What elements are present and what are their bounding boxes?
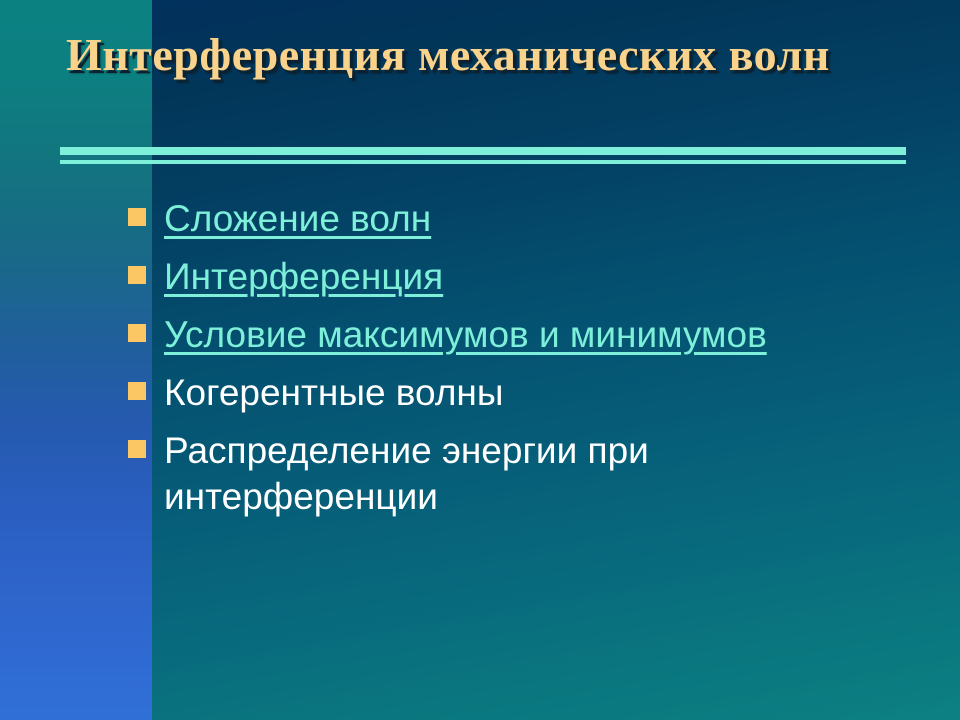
bullet-link-interferenciya[interactable]: Интерференция [164,254,928,300]
square-bullet-icon [128,208,146,226]
square-bullet-icon [128,324,146,342]
divider-rule-thick [60,147,906,155]
square-bullet-icon [128,440,146,458]
list-item: Распределение энергии при интерференции [128,428,928,520]
bullet-text-kogerentnye-volny: Когерентные волны [164,370,928,416]
divider-rule-thin [60,160,906,164]
bullet-link-slozhenie-voln[interactable]: Сложение волн [164,196,928,242]
slide-title: Интерференция механических волн [66,26,906,83]
list-item[interactable]: Сложение волн [128,196,928,242]
bullet-text-raspredelenie-energii-pri-interferencii: Распределение энергии при интерференции [164,428,928,520]
bullet-link-uslovie-maksimumov-i-minimumov[interactable]: Условие максимумов и минимумов [164,312,928,358]
presentation-slide: Интерференция механических волн Сложение… [0,0,960,720]
square-bullet-icon [128,382,146,400]
list-item[interactable]: Условие максимумов и минимумов [128,312,928,358]
list-item: Когерентные волны [128,370,928,416]
bullet-list: Сложение волн Интерференция Условие макс… [128,196,928,532]
list-item[interactable]: Интерференция [128,254,928,300]
title-divider [60,147,906,167]
square-bullet-icon [128,266,146,284]
